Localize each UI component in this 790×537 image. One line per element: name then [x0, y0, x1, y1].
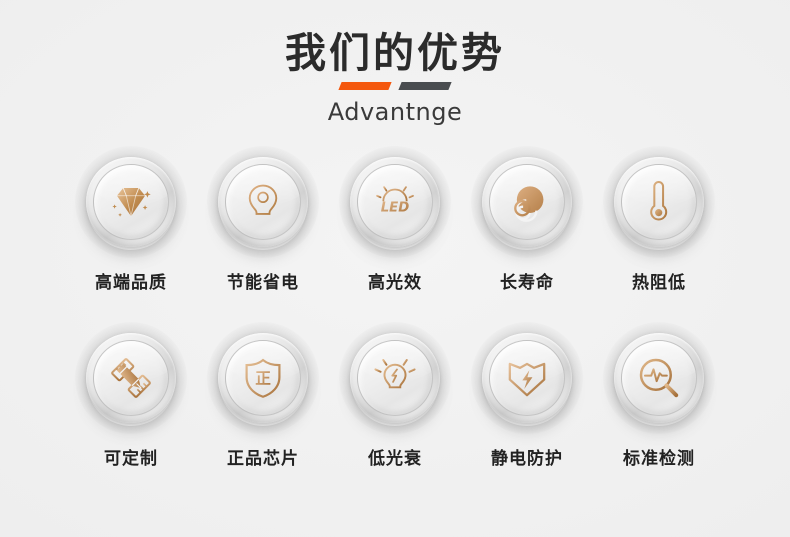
orb-ring — [614, 333, 704, 423]
diamond-icon — [106, 177, 156, 227]
advantage-label: 高光效 — [368, 272, 422, 294]
advantage-label: 节能省电 — [227, 272, 299, 294]
title-divider — [340, 82, 450, 91]
advantage-label: 高端品质 — [95, 272, 167, 294]
advantage-grid: 高端品质 — [0, 146, 790, 498]
orb-ring — [614, 157, 704, 247]
advantage-label: 热阻低 — [632, 272, 686, 294]
orb-ring — [482, 333, 572, 423]
icon-orb — [471, 322, 583, 434]
advantage-label: 低光衰 — [368, 448, 422, 470]
icon-orb — [339, 322, 451, 434]
advantage-item-esd-protection[interactable]: 静电防护 — [471, 322, 583, 470]
lightbulb-rays-icon — [370, 353, 420, 403]
orb-ring — [482, 157, 572, 247]
led-sun-icon: LED — [370, 177, 420, 227]
orb-inner: 正 — [225, 340, 301, 416]
advantage-label: 正品芯片 — [227, 448, 299, 470]
orb-ring: LED — [350, 157, 440, 247]
orb-ring — [86, 157, 176, 247]
advantage-label: 标准检测 — [623, 448, 695, 470]
orb-inner — [489, 340, 565, 416]
orb-inner — [357, 340, 433, 416]
advantage-item-low-thermal-resistance[interactable]: 热阻低 — [603, 146, 715, 294]
magnifier-pulse-icon — [634, 353, 684, 403]
orb-inner — [489, 164, 565, 240]
icon-orb: 正 — [207, 322, 319, 434]
shield-zheng-icon: 正 — [238, 353, 288, 403]
divider-bar-left — [338, 82, 391, 90]
advantage-label: 静电防护 — [491, 448, 563, 470]
advantage-section: 我们的优势 Advantnge — [0, 0, 790, 537]
orb-ring — [218, 157, 308, 247]
icon-orb — [603, 322, 715, 434]
advantage-item-high-quality[interactable]: 高端品质 — [75, 146, 187, 294]
advantage-item-luminous-efficiency[interactable]: LED 高光效 — [339, 146, 451, 294]
svg-text:正: 正 — [255, 369, 271, 387]
orb-inner — [93, 164, 169, 240]
advantage-item-standard-testing[interactable]: 标准检测 — [603, 322, 715, 470]
section-header: 我们的优势 Advantnge — [0, 0, 790, 127]
lightbulb-outline-icon — [238, 177, 288, 227]
advantage-item-genuine-chip[interactable]: 正 正品芯片 — [207, 322, 319, 470]
thermometer-icon — [634, 177, 684, 227]
page-subtitle: Advantnge — [0, 97, 790, 127]
orb-inner — [621, 164, 697, 240]
orb-ring — [350, 333, 440, 423]
icon-orb — [471, 146, 583, 258]
orb-ring: 正 — [218, 333, 308, 423]
advantage-row-1: 高端品质 — [0, 146, 790, 294]
advantage-label: 可定制 — [104, 448, 158, 470]
divider-bar-right — [398, 82, 451, 90]
orb-inner — [93, 340, 169, 416]
advantage-label: 长寿命 — [500, 272, 554, 294]
advantage-item-energy-saving[interactable]: 节能省电 — [207, 146, 319, 294]
icon-orb — [75, 146, 187, 258]
svg-text:LED: LED — [381, 200, 410, 215]
orb-inner: LED — [357, 164, 433, 240]
pencil-ruler-icon — [106, 353, 156, 403]
advantage-item-customizable[interactable]: 可定制 — [75, 322, 187, 470]
page-title: 我们的优势 — [0, 28, 790, 78]
advantage-item-long-lifespan[interactable]: 长寿命 — [471, 146, 583, 294]
advantage-row-2: 可定制 — [0, 322, 790, 470]
orb-inner — [621, 340, 697, 416]
icon-orb — [75, 322, 187, 434]
spiral-circles-icon — [502, 177, 552, 227]
icon-orb — [603, 146, 715, 258]
orb-ring — [86, 333, 176, 423]
icon-orb — [207, 146, 319, 258]
advantage-item-low-light-decay[interactable]: 低光衰 — [339, 322, 451, 470]
shield-bolt-icon — [502, 353, 552, 403]
orb-inner — [225, 164, 301, 240]
icon-orb: LED — [339, 146, 451, 258]
